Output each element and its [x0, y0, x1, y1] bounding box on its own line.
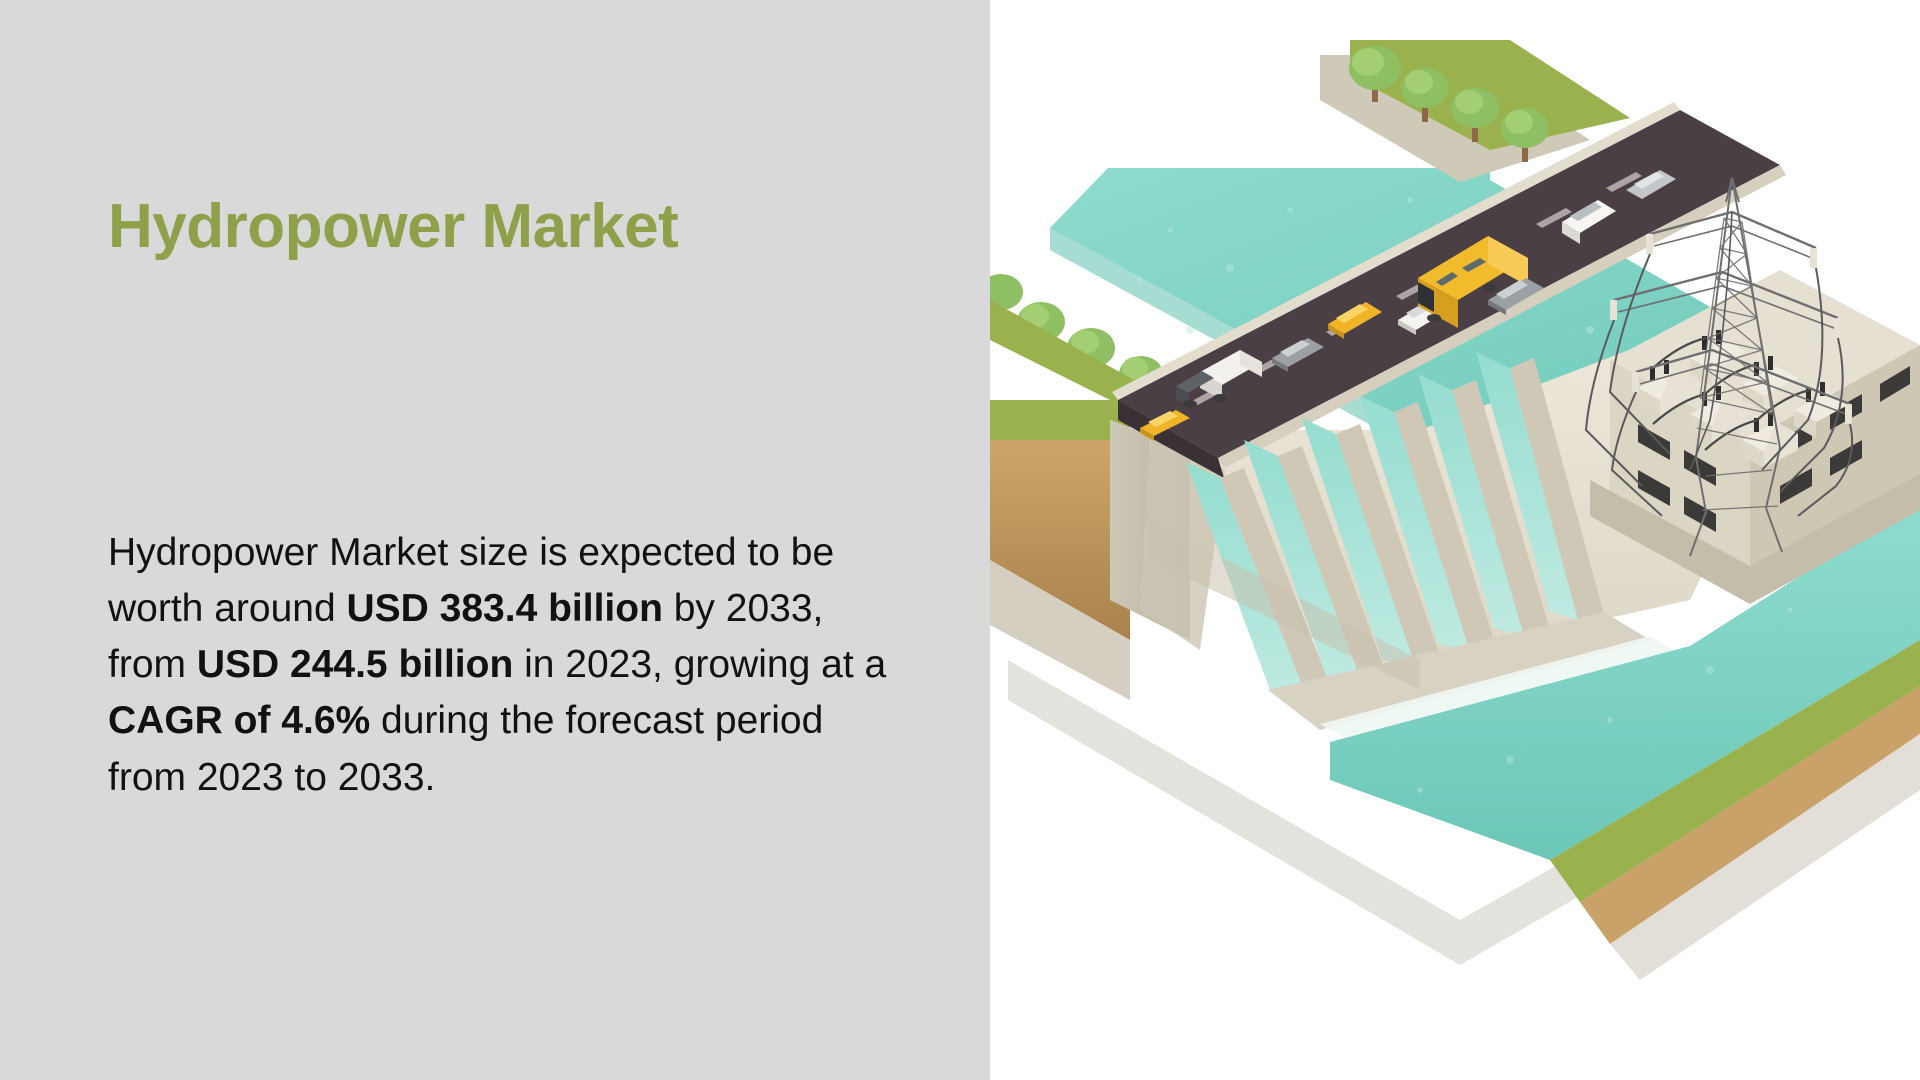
page-title: Hydropower Market: [108, 196, 678, 258]
market-summary-paragraph: Hydropower Market size is expected to be…: [108, 525, 908, 806]
summary-figure-forecast: USD 383.4 billion: [346, 587, 662, 630]
infographic-page: Hydropower Market Hydropower Market size…: [0, 0, 1920, 1080]
summary-figure-cagr: CAGR of 4.6%: [108, 699, 370, 742]
hydropower-dam-illustration: [990, 0, 1920, 1080]
grass-left-strip: [990, 400, 1130, 440]
summary-figure-base: USD 244.5 billion: [197, 643, 513, 686]
text-panel: Hydropower Market Hydropower Market size…: [0, 0, 990, 1080]
summary-segment-4: in 2023, growing at a: [513, 643, 886, 686]
illustration-panel: [990, 0, 1920, 1080]
